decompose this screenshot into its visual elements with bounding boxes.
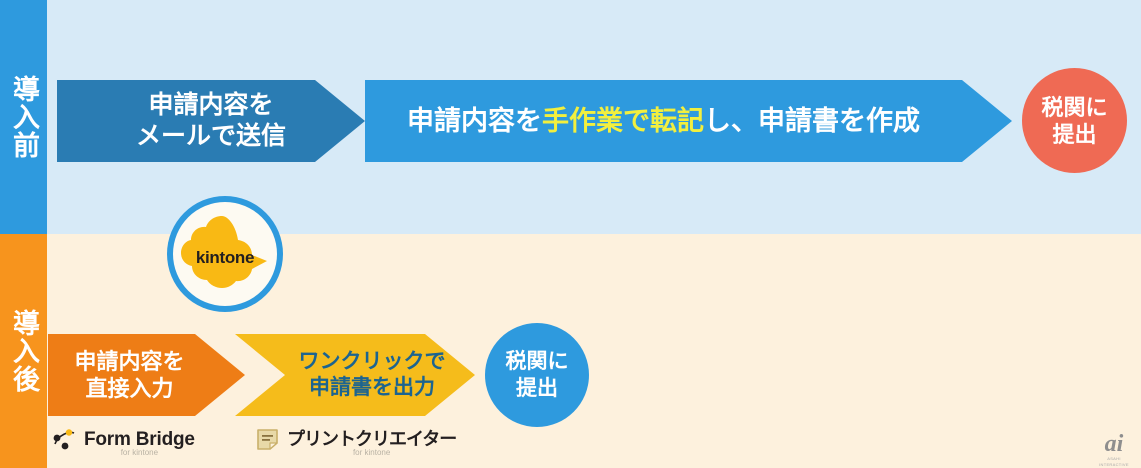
before-step-manual-transcribe: 申請内容を手作業で転記し、申請書を作成 (365, 80, 1012, 162)
after-step-direct-input-line2: 直接入力 (74, 375, 184, 402)
before-step-manual-transcribe-highlight: 手作業で転記 (542, 106, 704, 136)
after-rail-label: 導入後 (0, 296, 47, 406)
form-bridge-title: Form Bridge (84, 429, 195, 450)
kintone-callout-bubble: kintone (160, 192, 290, 322)
after-step-one-click-output-line2: 申請書を出力 (299, 375, 446, 401)
form-bridge-icon (52, 427, 77, 452)
before-endpoint-line2: 提出 (1041, 121, 1107, 148)
watermark-subtitle: ASAHI INTERACTIVE (1094, 456, 1134, 468)
before-rail-label: 導入前 (0, 62, 47, 172)
before-step-send-by-mail-line1: 申請内容を (136, 90, 286, 121)
print-creator-title: プリントクリエイター (287, 429, 456, 449)
kintone-bubble-label: kintone (160, 248, 290, 268)
after-step-one-click-output-line1: ワンクリックで (299, 349, 446, 375)
before-step-send-by-mail-line2: メールで送信 (136, 121, 286, 152)
print-creator-subtitle: for kintone (353, 448, 390, 457)
diagram-canvas: 導入前 導入後 申請内容を メールで送信 申請内容を手作業で転記し、申請書を作成… (0, 0, 1141, 468)
watermark: ai ASAHI INTERACTIVE (1094, 432, 1134, 468)
logo-form-bridge: Form Bridge for kintone (52, 427, 195, 452)
after-endpoint-line2: 提出 (506, 375, 569, 402)
form-bridge-wordmark: Form Bridge for kintone (84, 429, 195, 450)
after-step-direct-input-line1: 申請内容を (74, 348, 184, 375)
form-bridge-subtitle: for kintone (121, 448, 158, 457)
watermark-mark: ai (1094, 432, 1134, 456)
after-endpoint-line1: 税関に (506, 348, 569, 375)
before-step-manual-transcribe-pre: 申請内容を (407, 106, 542, 136)
print-creator-wordmark: プリントクリエイター for kintone (287, 429, 456, 450)
print-creator-icon (255, 427, 280, 452)
before-step-send-by-mail: 申請内容を メールで送信 (57, 80, 365, 162)
before-endpoint-line1: 税関に (1041, 94, 1107, 121)
before-endpoint-submit-to-customs: 税関に 提出 (1022, 68, 1127, 173)
after-endpoint-submit-to-customs: 税関に 提出 (485, 323, 589, 427)
logo-print-creator: プリントクリエイター for kintone (255, 427, 456, 452)
before-step-manual-transcribe-post: し、申請書を作成 (704, 106, 920, 136)
